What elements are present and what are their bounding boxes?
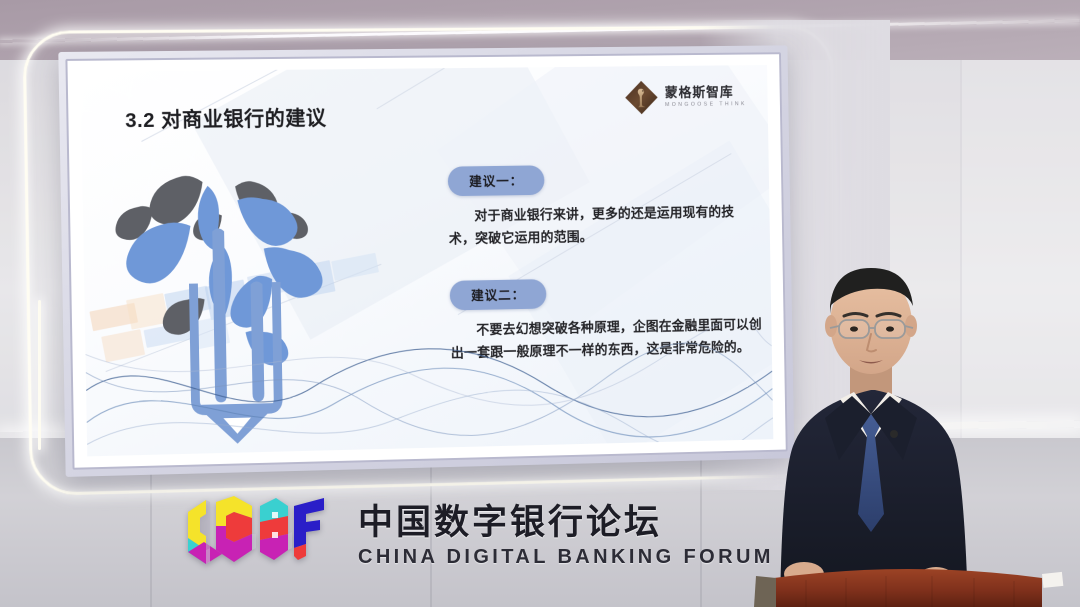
- forum-title-cn: 中国数字银行论坛: [358, 505, 774, 540]
- cdbf-hexagon-logo: [176, 492, 336, 580]
- mongoose-logo: 蒙格斯智库 MONGOOSE THINK: [624, 79, 747, 115]
- studio-scene: 3.2 对商业银行的建议: [0, 0, 1080, 607]
- recommendation-1-badge: 建议一：: [448, 165, 545, 196]
- wave-decoration: [85, 323, 773, 457]
- slide-title: 3.2 对商业银行的建议: [125, 101, 327, 133]
- logo-cn-text: 蒙格斯智库: [665, 86, 747, 100]
- recommendation-1-text: 对于商业银行来讲，更多的还是运用现有的技术，突破它运用的范围。: [448, 201, 745, 252]
- logo-en-text: MONGOOSE THINK: [665, 102, 747, 108]
- podium: [736, 556, 1080, 607]
- forum-branding: 中国数字银行论坛 CHINA DIGITAL BANKING FORUM: [176, 492, 774, 580]
- screen-bezel: 3.2 对商业银行的建议: [58, 45, 794, 477]
- forum-title-en: CHINA DIGITAL BANKING FORUM: [358, 547, 774, 567]
- neon-left-tail: [38, 300, 41, 450]
- presentation-screen[interactable]: 3.2 对商业银行的建议: [58, 45, 794, 477]
- slide-content: 3.2 对商业银行的建议: [81, 65, 774, 456]
- recommendation-block-1: 建议一： 对于商业银行来讲，更多的还是运用现有的技术，突破它运用的范围。: [448, 163, 746, 252]
- mongoose-diamond-icon: [624, 80, 659, 116]
- recommendation-2-badge: 建议二：: [450, 279, 547, 310]
